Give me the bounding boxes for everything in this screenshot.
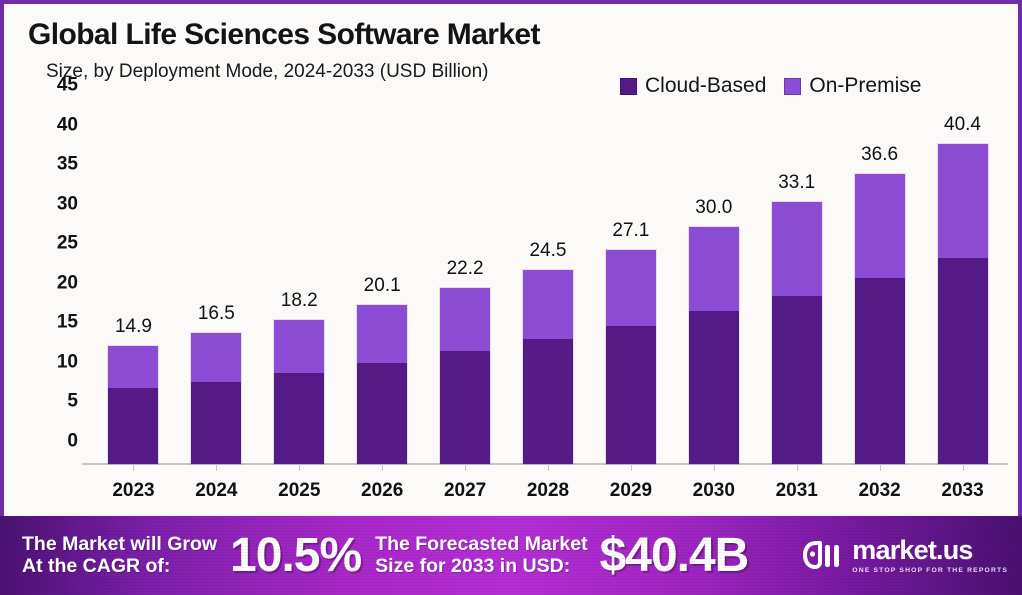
bar-segment-on-premise-2025[interactable] [274,320,324,373]
bar-2030[interactable] [689,227,739,464]
bar-value-label-2030: 30.0 [695,197,732,219]
x-axis-label-2031: 2031 [776,480,818,502]
bar-value-label-2033: 40.4 [944,114,981,136]
bar-segment-cloud-based-2025[interactable] [274,373,324,464]
bar-2031[interactable] [772,202,822,464]
legend-item-on-premise[interactable]: On-Premise [784,74,921,98]
legend-swatch-on-premise [784,78,801,95]
x-axis-tickmark-2023 [133,464,134,471]
bar-slot-2025: 18.22025 [258,108,341,464]
bar-slot-2024: 16.52024 [175,108,258,464]
bar-2027[interactable] [440,288,490,464]
y-axis-tick-35: 35 [57,154,78,176]
x-axis-label-2030: 2030 [693,480,735,502]
x-axis-tickmark-2025 [299,464,300,471]
bar-segment-cloud-based-2029[interactable] [606,326,656,464]
bar-segment-on-premise-2028[interactable] [523,270,573,339]
bar-slot-2026: 20.12026 [341,108,424,464]
legend-label-on-premise: On-Premise [809,74,921,98]
bar-slot-2033: 40.42033 [921,108,1004,464]
bar-segment-cloud-based-2030[interactable] [689,311,739,464]
bar-slot-2032: 36.62032 [838,108,921,464]
bar-value-label-2028: 24.5 [529,240,566,262]
bar-segment-cloud-based-2026[interactable] [357,363,407,464]
x-axis-tickmark-2027 [465,464,466,471]
bar-2032[interactable] [855,174,905,464]
bar-slot-2027: 22.22027 [424,108,507,464]
y-axis-tick-20: 20 [57,272,78,294]
x-axis-label-2023: 2023 [112,480,154,502]
logo-tagline: ONE STOP SHOP FOR THE REPORTS [852,567,1008,574]
x-axis-tickmark-2029 [631,464,632,471]
y-axis-tick-15: 15 [57,312,78,334]
plot-area: 051015202530354045 14.9202316.5202418.22… [92,108,1004,464]
chart-subtitle: Size, by Deployment Mode, 2024-2033 (USD… [46,61,489,83]
bar-slot-2028: 24.52028 [507,108,590,464]
bar-segment-on-premise-2031[interactable] [772,202,822,296]
bar-segment-cloud-based-2028[interactable] [523,339,573,464]
bar-slot-2031: 33.12031 [755,108,838,464]
bar-group: 14.9202316.5202418.2202520.1202622.22027… [92,108,1004,464]
bar-value-label-2025: 18.2 [281,290,318,312]
bar-segment-on-premise-2033[interactable] [938,144,988,258]
y-axis-tick-40: 40 [57,114,78,136]
x-axis-tickmark-2024 [216,464,217,471]
bar-segment-on-premise-2024[interactable] [191,333,241,381]
bar-segment-cloud-based-2023[interactable] [108,388,158,464]
bar-segment-on-premise-2030[interactable] [689,227,739,312]
bar-value-label-2027: 22.2 [447,258,484,280]
x-axis-label-2024: 2024 [195,480,237,502]
cagr-value: 10.5% [230,528,361,583]
market-us-logo-icon [803,539,843,573]
x-axis-tickmark-2032 [880,464,881,471]
bar-value-label-2031: 33.1 [778,172,815,194]
forecast-label-line2: Size for 2033 in USD: [375,556,587,578]
x-axis-label-2028: 2028 [527,480,569,502]
forecast-block: The Forecasted Market Size for 2033 in U… [375,534,587,578]
x-axis-label-2029: 2029 [610,480,652,502]
x-axis-label-2026: 2026 [361,480,403,502]
x-axis-tickmark-2028 [548,464,549,471]
x-axis-tickmark-2031 [797,464,798,471]
chart-legend: Cloud-Based On-Premise [620,74,921,98]
legend-swatch-cloud-based [620,78,637,95]
bar-slot-2030: 30.02030 [672,108,755,464]
bar-2026[interactable] [357,305,407,464]
bar-segment-on-premise-2032[interactable] [855,174,905,278]
bar-value-label-2023: 14.9 [115,316,152,338]
bar-2024[interactable] [191,333,241,464]
y-axis-tick-45: 45 [57,75,78,97]
cagr-label-line2: At the CAGR of: [22,556,217,578]
x-axis-label-2027: 2027 [444,480,486,502]
bar-value-label-2024: 16.5 [198,303,235,325]
y-axis-tick-30: 30 [57,193,78,215]
y-axis-tick-0: 0 [67,431,78,453]
bar-segment-cloud-based-2024[interactable] [191,382,241,464]
bar-segment-on-premise-2027[interactable] [440,288,490,350]
market-us-logo[interactable]: market.us ONE STOP SHOP FOR THE REPORTS [803,537,1008,574]
y-axis-tick-10: 10 [57,351,78,373]
bar-segment-on-premise-2029[interactable] [606,250,656,327]
infographic-root: Global Life Sciences Software Market Siz… [0,0,1022,595]
chart-title: Global Life Sciences Software Market [28,18,540,52]
bar-2033[interactable] [938,144,988,464]
logo-name: market.us [852,537,1008,564]
x-axis-label-2025: 2025 [278,480,320,502]
x-axis-tickmark-2033 [963,464,964,471]
legend-item-cloud-based[interactable]: Cloud-Based [620,74,766,98]
bar-value-label-2026: 20.1 [364,275,401,297]
bar-2023[interactable] [108,346,158,464]
bar-2029[interactable] [606,250,656,464]
bar-segment-on-premise-2023[interactable] [108,346,158,388]
chart-panel: Global Life Sciences Software Market Siz… [0,0,1022,516]
bar-2028[interactable] [523,270,573,464]
forecast-value: $40.4B [600,528,749,583]
bar-segment-cloud-based-2031[interactable] [772,296,822,464]
bar-slot-2023: 14.92023 [92,108,175,464]
x-axis-tickmark-2030 [714,464,715,471]
forecast-label-line1: The Forecasted Market [375,534,587,556]
bar-slot-2029: 27.12029 [589,108,672,464]
y-axis-tick-25: 25 [57,233,78,255]
x-axis-label-2033: 2033 [941,480,983,502]
x-axis-tickmark-2026 [382,464,383,471]
bar-value-label-2029: 27.1 [612,220,649,242]
bar-segment-cloud-based-2032[interactable] [855,278,905,464]
legend-label-cloud-based: Cloud-Based [645,74,766,98]
x-axis-label-2032: 2032 [858,480,900,502]
bar-value-label-2032: 36.6 [861,144,898,166]
bar-segment-on-premise-2026[interactable] [357,305,407,363]
summary-banner: The Market will Grow At the CAGR of: 10.… [0,516,1022,595]
cagr-label-line1: The Market will Grow [22,534,217,556]
y-axis-tick-5: 5 [67,391,78,413]
bar-2025[interactable] [274,320,324,464]
bar-segment-cloud-based-2027[interactable] [440,351,490,464]
market-us-logo-text: market.us ONE STOP SHOP FOR THE REPORTS [852,537,1008,574]
cagr-block: The Market will Grow At the CAGR of: [22,534,217,578]
bar-segment-cloud-based-2033[interactable] [938,258,988,464]
